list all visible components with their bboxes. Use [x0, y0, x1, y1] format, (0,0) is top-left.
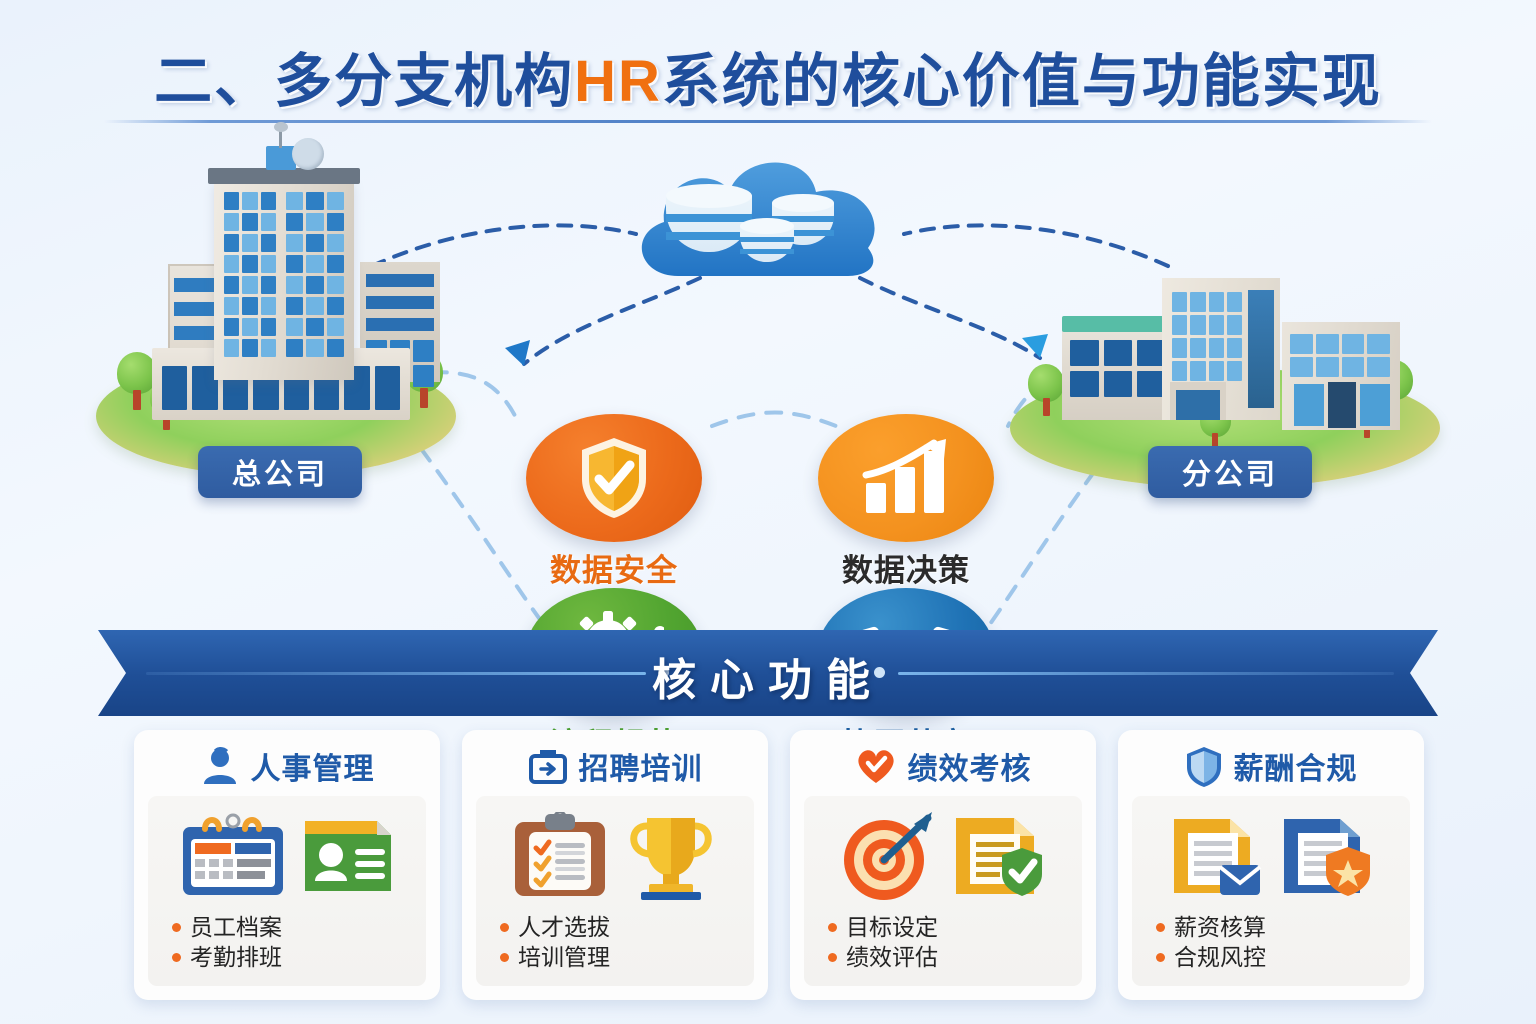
architecture-diagram: 数据安全 数据决策 [0, 126, 1536, 631]
branch-building-left [1062, 328, 1174, 420]
bullet-text: 人才选拔 [518, 912, 610, 942]
card-bullets: 员工档案 考勤排班 [156, 912, 418, 973]
bullet-item: 绩效评估 [828, 942, 1074, 972]
briefcase-icon [528, 747, 568, 785]
card-bullets: 目标设定 绩效评估 [812, 912, 1074, 973]
bullet-text: 目标设定 [846, 912, 938, 942]
card-body: 薪资核算 合规风控 [1132, 796, 1410, 986]
feature-card-recruiting[interactable]: 招聘培训 [462, 730, 768, 1000]
card-header: 绩效考核 [804, 742, 1082, 790]
bullet-text: 考勤排班 [190, 942, 282, 972]
card-icons [812, 806, 1074, 906]
value-item-security[interactable]: 数据安全 [526, 414, 702, 542]
bullet-item: 考勤排班 [172, 942, 418, 972]
bullet-item: 培训管理 [500, 942, 746, 972]
card-header: 人事管理 [148, 742, 426, 790]
branch-building-right [1282, 322, 1400, 430]
document-mail-icon [1168, 813, 1264, 899]
card-title: 招聘培训 [579, 744, 703, 788]
feature-card-hr-admin[interactable]: 人事管理 [134, 730, 440, 1000]
card-title: 绩效考核 [908, 744, 1032, 788]
bullet-text: 员工档案 [190, 912, 282, 942]
bullet-item: 合规风控 [1156, 942, 1402, 972]
feature-card-payroll-compliance[interactable]: 薪酬合规 [1118, 730, 1424, 1000]
bullet-text: 合规风控 [1174, 942, 1266, 972]
branch-label-text: 分公司 [1182, 451, 1278, 493]
bullet-item: 目标设定 [828, 912, 1074, 942]
title-divider [104, 120, 1432, 123]
document-shield-icon [1278, 813, 1374, 899]
bullet-item: 员工档案 [172, 912, 418, 942]
card-header: 招聘培训 [476, 742, 754, 790]
bullet-dot [828, 953, 837, 962]
bullet-text: 绩效评估 [846, 942, 938, 972]
value-item-decision[interactable]: 数据决策 [818, 414, 994, 542]
card-icons [156, 806, 418, 906]
card-header: 薪酬合规 [1132, 742, 1410, 790]
feature-card-performance[interactable]: 绩效考核 [790, 730, 1096, 1000]
card-bullets: 人才选拔 培训管理 [484, 912, 746, 973]
bullet-item: 薪资核算 [1156, 912, 1402, 942]
document-approved-icon [950, 812, 1046, 900]
page-title: 二、多分支机构HR系统的核心价值与功能实现 [0, 34, 1536, 118]
shield-check-icon [576, 435, 652, 521]
card-body: 人才选拔 培训管理 [476, 796, 754, 986]
bullet-dot [828, 923, 837, 932]
user-profile-icon [200, 746, 240, 786]
hq-label-pill[interactable]: 总公司 [198, 446, 362, 498]
heart-check-icon [855, 747, 897, 785]
core-functions-banner: 核心功能 [98, 630, 1438, 716]
bullet-text: 薪资核算 [1174, 912, 1266, 942]
id-card-icon [301, 817, 395, 895]
bullet-item: 人才选拔 [500, 912, 746, 942]
branch-label-pill[interactable]: 分公司 [1148, 446, 1312, 498]
value-label: 数据决策 [796, 545, 1016, 590]
value-badge [818, 414, 994, 542]
shield-icon [1185, 745, 1223, 787]
page-title-highlight: HR [574, 49, 662, 114]
card-icons [1140, 806, 1402, 906]
hq-tower [214, 180, 354, 380]
branch-building-center [1162, 278, 1280, 420]
page-header: 二、多分支机构HR系统的核心价值与功能实现 [0, 34, 1536, 118]
bullet-dot [172, 923, 181, 932]
page-title-suffix: 系统的核心价值与功能实现 [662, 49, 1382, 114]
card-title: 薪酬合规 [1234, 744, 1358, 788]
card-body: 员工档案 考勤排班 [148, 796, 426, 986]
bullet-dot [500, 923, 509, 932]
bullet-dot [500, 953, 509, 962]
target-dart-icon [840, 810, 936, 902]
card-icons [484, 806, 746, 906]
feature-card-list: 人事管理 [134, 730, 1424, 1000]
calendar-schedule-icon [179, 813, 287, 899]
hq-roof [208, 168, 360, 184]
checklist-clipboard-icon [511, 812, 609, 900]
database-cylinder-small [740, 218, 794, 272]
satellite-dish-icon [292, 138, 324, 170]
hq-label-text: 总公司 [232, 451, 328, 493]
page-title-prefix: 二、多分支机构 [154, 49, 574, 114]
bullet-dot [1156, 923, 1165, 932]
value-badge [526, 414, 702, 542]
trophy-icon [623, 812, 719, 900]
banner-title: 核心功能 [98, 644, 1438, 708]
value-label: 数据安全 [504, 545, 724, 590]
bullet-dot [1156, 953, 1165, 962]
antenna-tip-icon [274, 122, 288, 132]
cloud-database-icon [620, 148, 920, 293]
card-bullets: 薪资核算 合规风控 [1140, 912, 1402, 973]
card-title: 人事管理 [251, 744, 375, 788]
bullet-dot [172, 953, 181, 962]
card-body: 目标设定 绩效评估 [804, 796, 1082, 986]
bullet-text: 培训管理 [518, 942, 610, 972]
bar-chart-growth-icon [858, 437, 954, 519]
